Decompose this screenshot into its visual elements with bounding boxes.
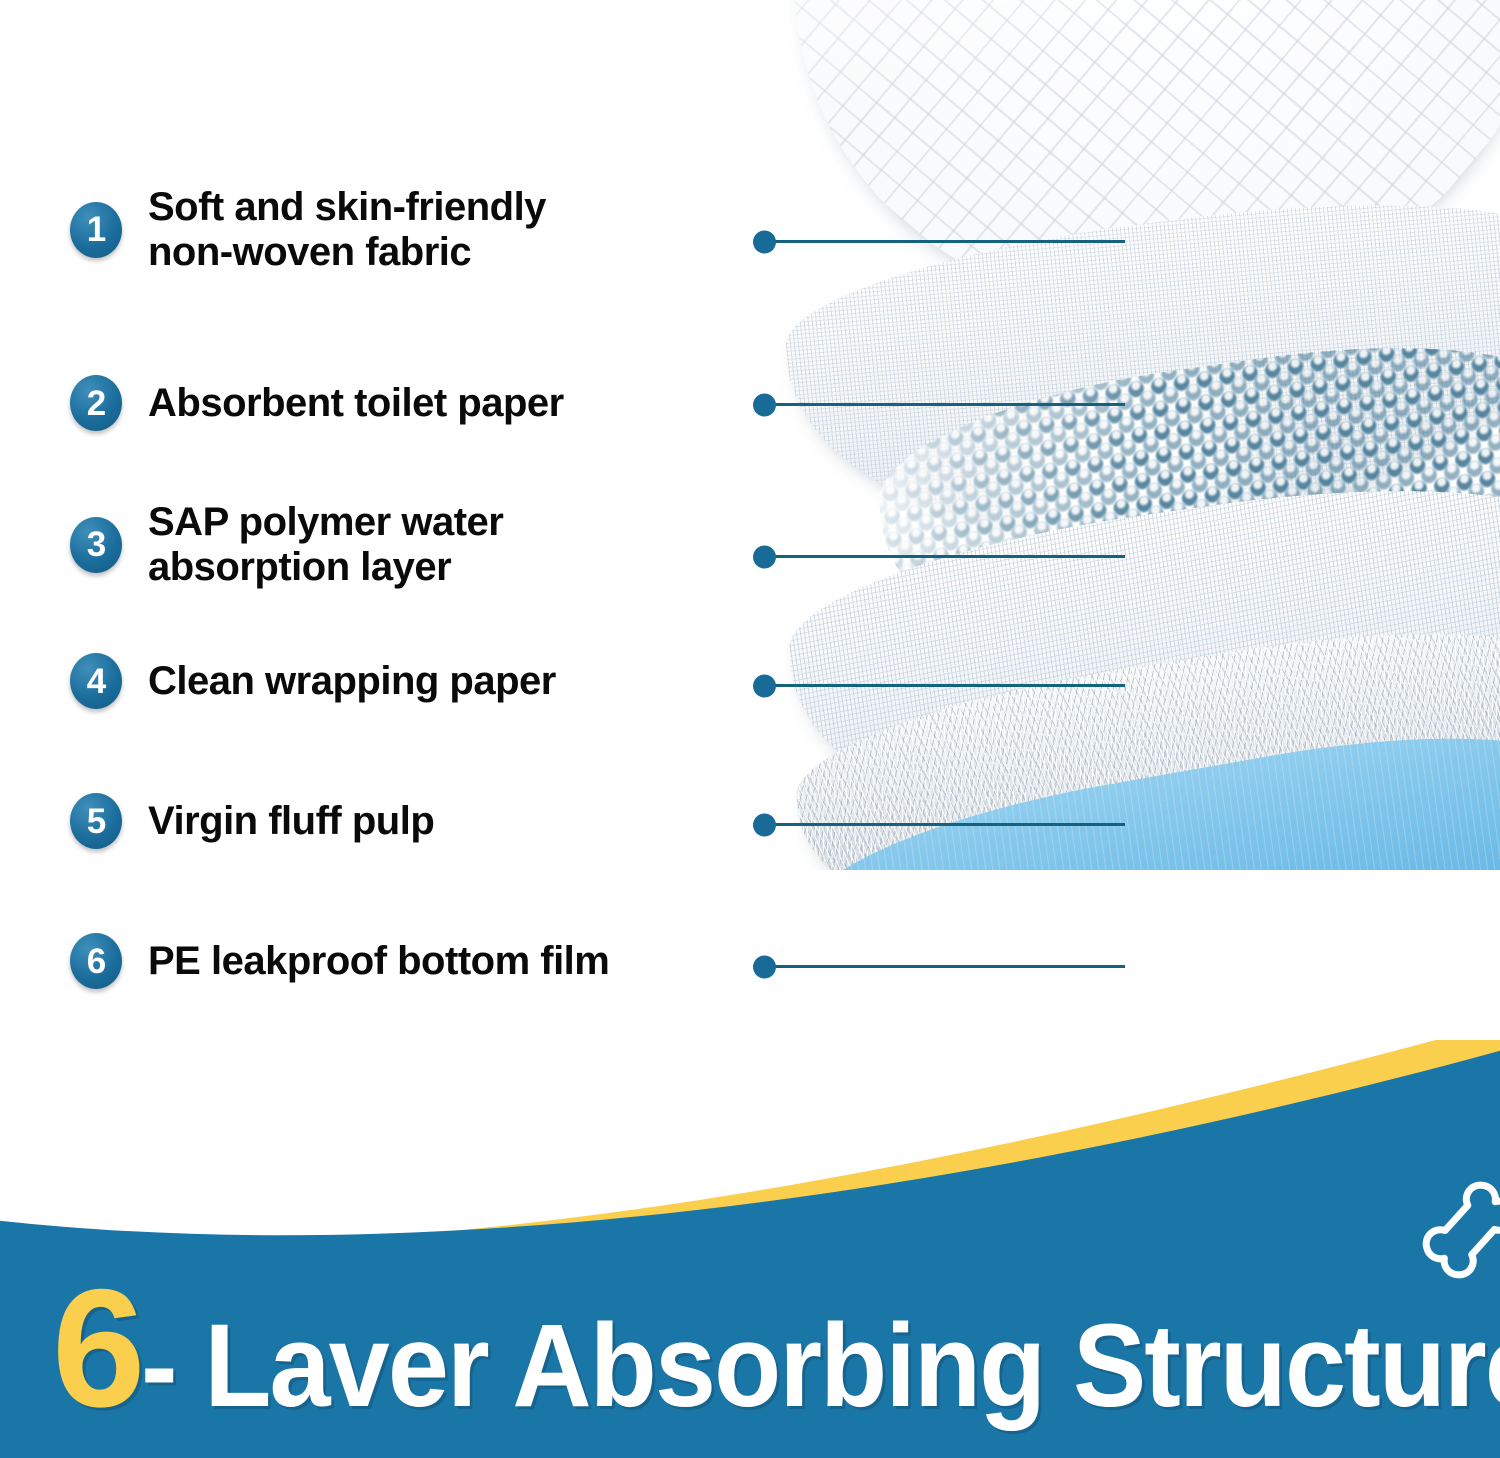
leader-line-4 (770, 684, 1125, 687)
leader-line-1 (770, 240, 1125, 243)
banner-headline-text: - Laver Absorbing Structure (141, 1298, 1500, 1434)
layer-label-5: Virgin fluff pulp (148, 799, 434, 844)
layer-badge-4: 4 (70, 653, 122, 709)
callout-item-2[interactable]: 2 Absorbent toilet paper (70, 375, 564, 431)
layer-badge-6: 6 (70, 933, 122, 989)
layer-callout-list: 1 Soft and skin-friendly non-woven fabri… (0, 0, 760, 1060)
layer-label-1: Soft and skin-friendly non-woven fabric (148, 185, 546, 275)
banner-big-number: 6 (52, 1283, 141, 1414)
banner-headline: 6 - Laver Absorbing Structure (52, 1283, 1500, 1434)
leader-line-3 (770, 555, 1125, 558)
product-layer-illustration (760, 0, 1500, 1070)
leader-line-2 (770, 403, 1125, 406)
layer-badge-3: 3 (70, 517, 122, 573)
layer-badge-1: 1 (70, 202, 122, 258)
callout-item-5[interactable]: 5 Virgin fluff pulp (70, 793, 434, 849)
leader-line-5 (770, 823, 1125, 826)
leader-line-6 (770, 965, 1125, 968)
layer-label-6: PE leakproof bottom film (148, 939, 609, 984)
layer-label-4: Clean wrapping paper (148, 659, 556, 704)
callout-item-6[interactable]: 6 PE leakproof bottom film (70, 933, 609, 989)
callout-item-3[interactable]: 3 SAP polymer water absorption layer (70, 500, 503, 590)
bottom-banner: 6 - Laver Absorbing Structure (0, 1040, 1500, 1458)
infographic-canvas: 1 Soft and skin-friendly non-woven fabri… (0, 0, 1500, 1458)
callout-item-1[interactable]: 1 Soft and skin-friendly non-woven fabri… (70, 185, 546, 275)
layer-badge-2: 2 (70, 375, 122, 431)
layer-badge-5: 5 (70, 793, 122, 849)
callout-item-4[interactable]: 4 Clean wrapping paper (70, 653, 556, 709)
layer-label-2: Absorbent toilet paper (148, 381, 564, 426)
layer-label-3: SAP polymer water absorption layer (148, 500, 503, 590)
